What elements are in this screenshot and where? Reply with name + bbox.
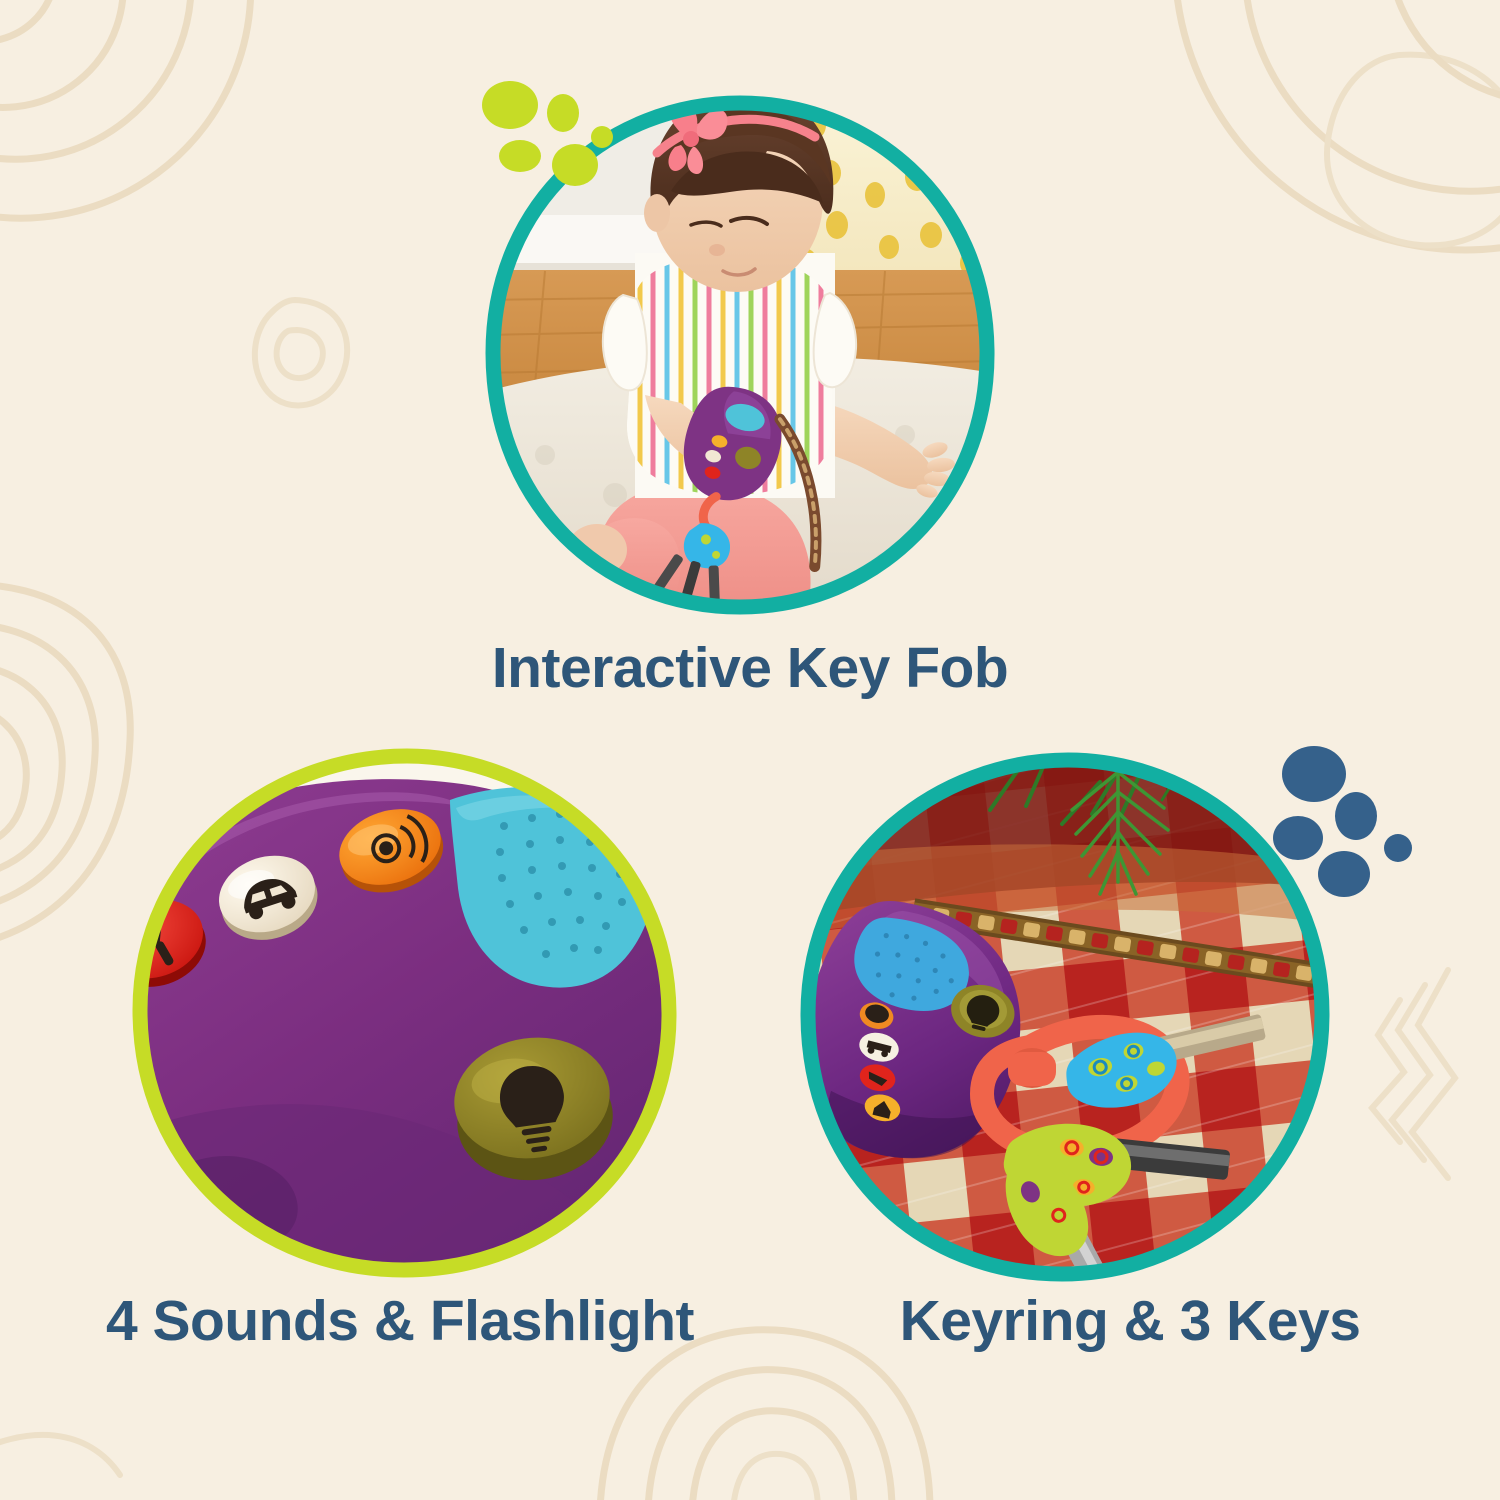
accent-dots-lime: [475, 75, 635, 215]
caption-keyring-keys: Keyring & 3 Keys: [780, 1288, 1480, 1354]
photo-frame-interactive-key-fob: [485, 95, 995, 615]
caption-interactive-key-fob: Interactive Key Fob: [0, 635, 1500, 701]
caption-sounds-flashlight: 4 Sounds & Flashlight: [20, 1288, 780, 1354]
photo-frame-keyring-keys: [800, 752, 1330, 1282]
photo-frame-sounds-flashlight: [132, 748, 677, 1278]
accent-dots-navy: [1262, 730, 1442, 910]
